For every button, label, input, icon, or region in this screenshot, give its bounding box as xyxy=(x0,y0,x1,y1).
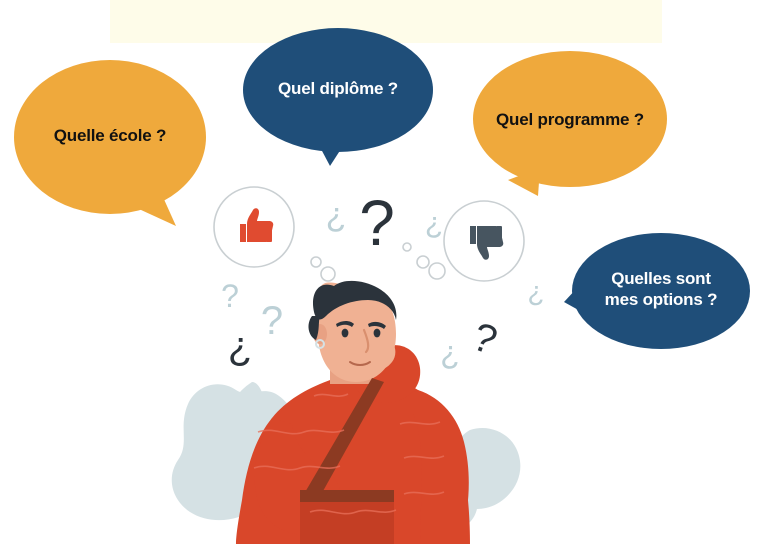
speech-bubbles-layer xyxy=(0,0,768,544)
illustration-canvas: ? ? ? ? ? ? ? ? ? xyxy=(0,0,768,544)
bubble-quel-diplome[interactable] xyxy=(243,28,433,166)
bubble-quelles-options[interactable] xyxy=(564,233,750,349)
bubble-quelle-ecole[interactable] xyxy=(14,60,206,226)
bubble-quel-programme[interactable] xyxy=(473,51,667,196)
